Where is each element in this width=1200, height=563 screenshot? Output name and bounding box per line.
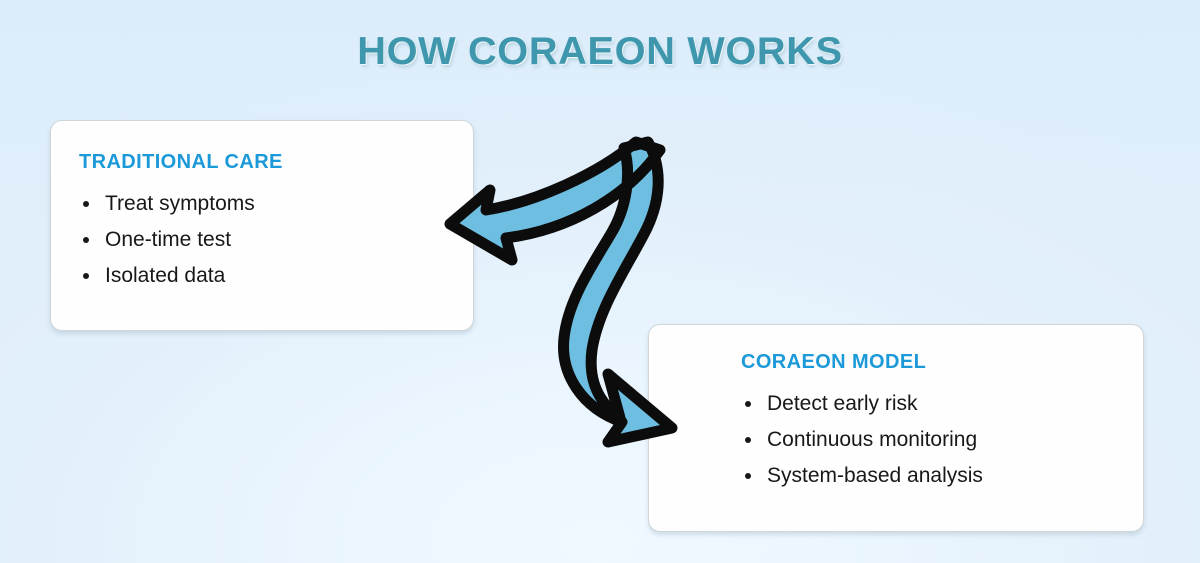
list-item: Continuous monitoring bbox=[741, 422, 1143, 458]
bullet-dot-icon bbox=[83, 201, 89, 207]
page-title: HOW CORAEON WORKS bbox=[0, 30, 1200, 74]
list-item-label: Isolated data bbox=[105, 264, 225, 287]
list-item-label: One-time test bbox=[105, 228, 231, 251]
list-item-label: Detect early risk bbox=[767, 392, 918, 415]
list-item-label: Treat symptoms bbox=[105, 192, 255, 215]
coraeon-model-bullet-list: Detect early risk Continuous monitoring … bbox=[741, 386, 1143, 494]
list-item-label: Continuous monitoring bbox=[767, 428, 977, 451]
bullet-dot-icon bbox=[83, 237, 89, 243]
bullet-dot-icon bbox=[745, 437, 751, 443]
list-item-label: System-based analysis bbox=[767, 464, 983, 487]
list-item: Detect early risk bbox=[741, 386, 1143, 422]
bullet-dot-icon bbox=[745, 401, 751, 407]
bullet-dot-icon bbox=[745, 473, 751, 479]
list-item: One-time test bbox=[79, 222, 473, 258]
card-coraeon-model-heading: CORAEON MODEL bbox=[741, 351, 1143, 374]
card-coraeon-model: CORAEON MODEL Detect early risk Continuo… bbox=[648, 324, 1144, 532]
card-traditional-care: TRADITIONAL CARE Treat symptoms One-time… bbox=[50, 120, 474, 331]
traditional-care-bullet-list: Treat symptoms One-time test Isolated da… bbox=[79, 186, 473, 294]
list-item: Isolated data bbox=[79, 258, 473, 294]
bullet-dot-icon bbox=[83, 273, 89, 279]
list-item: System-based analysis bbox=[741, 458, 1143, 494]
card-traditional-care-heading: TRADITIONAL CARE bbox=[79, 151, 473, 174]
list-item: Treat symptoms bbox=[79, 186, 473, 222]
